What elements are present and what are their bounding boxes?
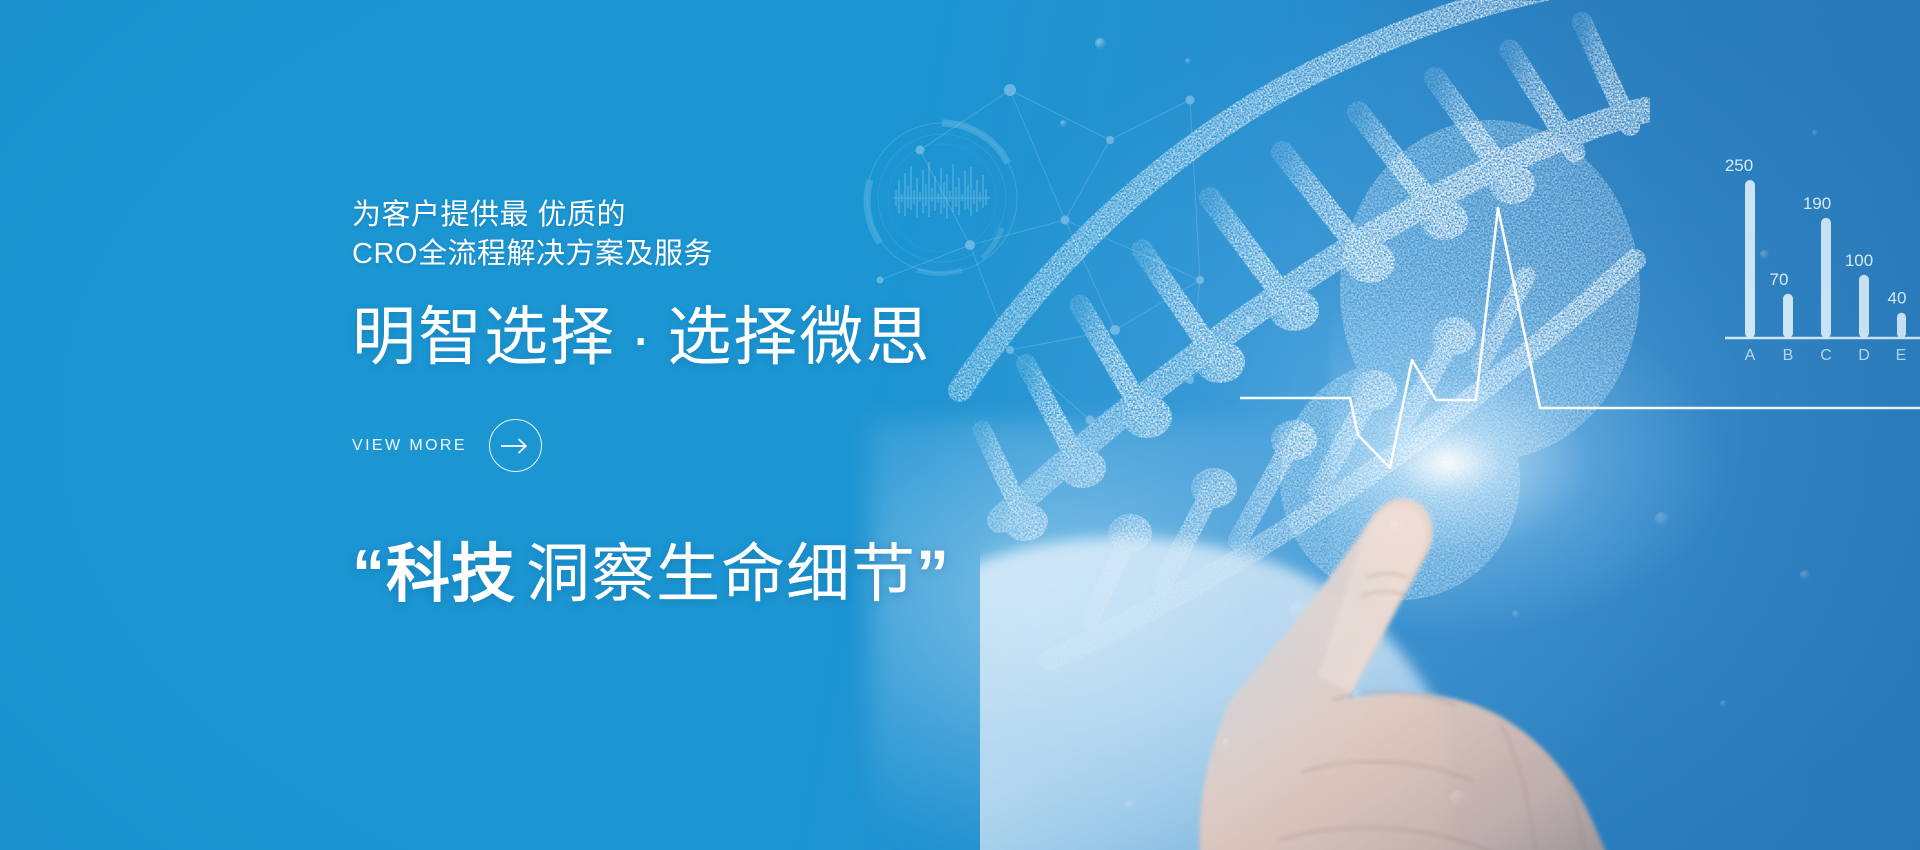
banner-vignette xyxy=(0,0,1920,850)
hero-banner: 250 70 190 100 40 A B C D E 为客户提供最 优质的 C… xyxy=(0,0,1920,850)
